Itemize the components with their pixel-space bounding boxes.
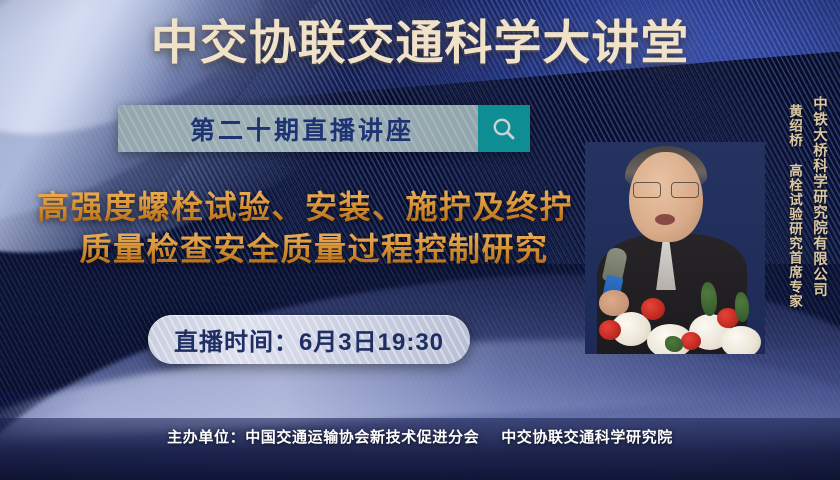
- broadcast-time-text: 直播时间：6月3日19:30: [174, 322, 444, 357]
- footer-prefix: 主办单位：: [167, 429, 245, 446]
- flower-leaf: [665, 336, 683, 352]
- footer-organizers: 主办单位：中国交通运输协会新技术促进分会中交协联交通科学研究院: [0, 426, 840, 447]
- flower-red: [681, 332, 701, 350]
- flower-white: [721, 326, 761, 354]
- glasses-icon: [633, 182, 699, 197]
- episode-label: 第二十期直播讲座: [118, 111, 478, 147]
- broadcast-time-badge: 直播时间：6月3日19:30: [148, 315, 470, 364]
- lecture-topic-line-2: 质量检查安全质量过程控制研究: [0, 228, 610, 270]
- search-button[interactable]: [478, 105, 530, 152]
- flower-red: [599, 320, 621, 340]
- flower-red: [641, 298, 665, 320]
- footer-org-2: 中交协联交通科学研究院: [501, 429, 673, 446]
- footer-org-1: 中国交通运输协会新技术促进分会: [245, 429, 479, 446]
- lecture-topic: 高强度螺栓试验、安装、施拧及终拧 质量检查安全质量过程控制研究: [0, 186, 610, 270]
- speaker-name-vertical: 黄绍桥 高栓试验研究首席专家: [784, 104, 804, 309]
- lecture-topic-line-1: 高强度螺栓试验、安装、施拧及终拧: [0, 186, 610, 228]
- page-title: 中交协联交通科学大讲堂: [0, 19, 840, 70]
- search-icon: [491, 116, 517, 142]
- episode-banner: 第二十期直播讲座: [118, 105, 530, 152]
- speaker-mouth: [655, 214, 675, 225]
- poster-canvas: 中铁大桥科学研究院有限公司 黄绍桥 高栓试验研究首席专家 中交协联交通科学大讲堂…: [0, 0, 840, 480]
- speaker-photo: [585, 142, 765, 354]
- speaker-organization-vertical: 中铁大桥科学研究院有限公司: [809, 96, 830, 298]
